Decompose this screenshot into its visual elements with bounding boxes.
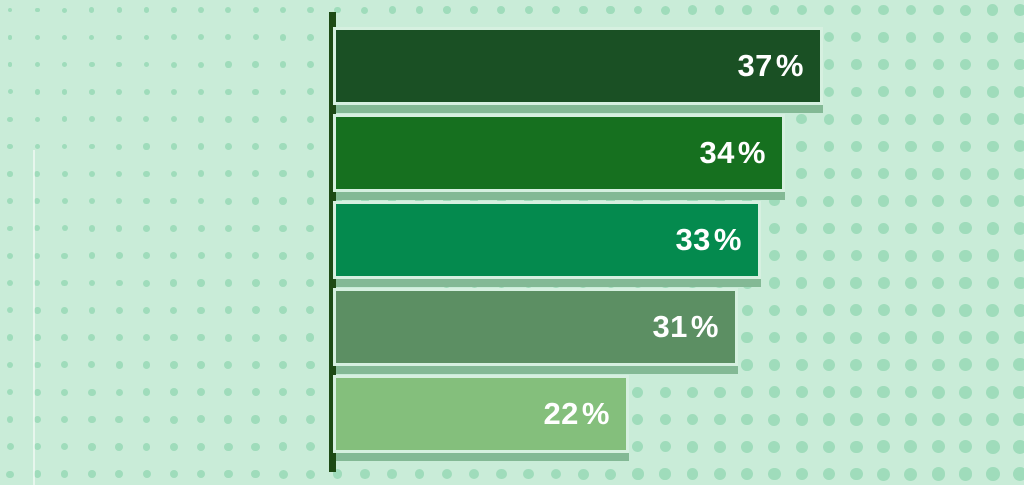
bar-value-number: 37 bbox=[737, 48, 772, 83]
bar-value-label: 33% bbox=[675, 222, 758, 258]
bar-segment[interactable]: 22% bbox=[333, 375, 629, 453]
bar-value-label: 34% bbox=[699, 135, 782, 171]
bar-segment[interactable]: 37% bbox=[333, 27, 823, 105]
percent-symbol: % bbox=[582, 396, 610, 431]
bar-value-number: 34 bbox=[699, 135, 734, 170]
percent-symbol: % bbox=[714, 222, 742, 257]
chart-container: Hiring & training a skilled workforce 37… bbox=[0, 0, 1024, 485]
bar-value-number: 33 bbox=[675, 222, 710, 257]
bar-segment[interactable]: 34% bbox=[333, 114, 785, 192]
bar-value-label: 22% bbox=[543, 396, 626, 432]
bar-value-number: 31 bbox=[652, 309, 687, 344]
percent-symbol: % bbox=[691, 309, 719, 344]
bar-chart-plot: Hiring & training a skilled workforce 37… bbox=[0, 0, 1024, 485]
bar-value-label: 37% bbox=[737, 48, 820, 84]
percent-symbol: % bbox=[776, 48, 804, 83]
percent-symbol: % bbox=[738, 135, 766, 170]
bar-segment[interactable]: 33% bbox=[333, 201, 761, 279]
bar-value-label: 31% bbox=[652, 309, 735, 345]
bar-segment[interactable]: 31% bbox=[333, 288, 738, 366]
bar-value-number: 22 bbox=[543, 396, 578, 431]
